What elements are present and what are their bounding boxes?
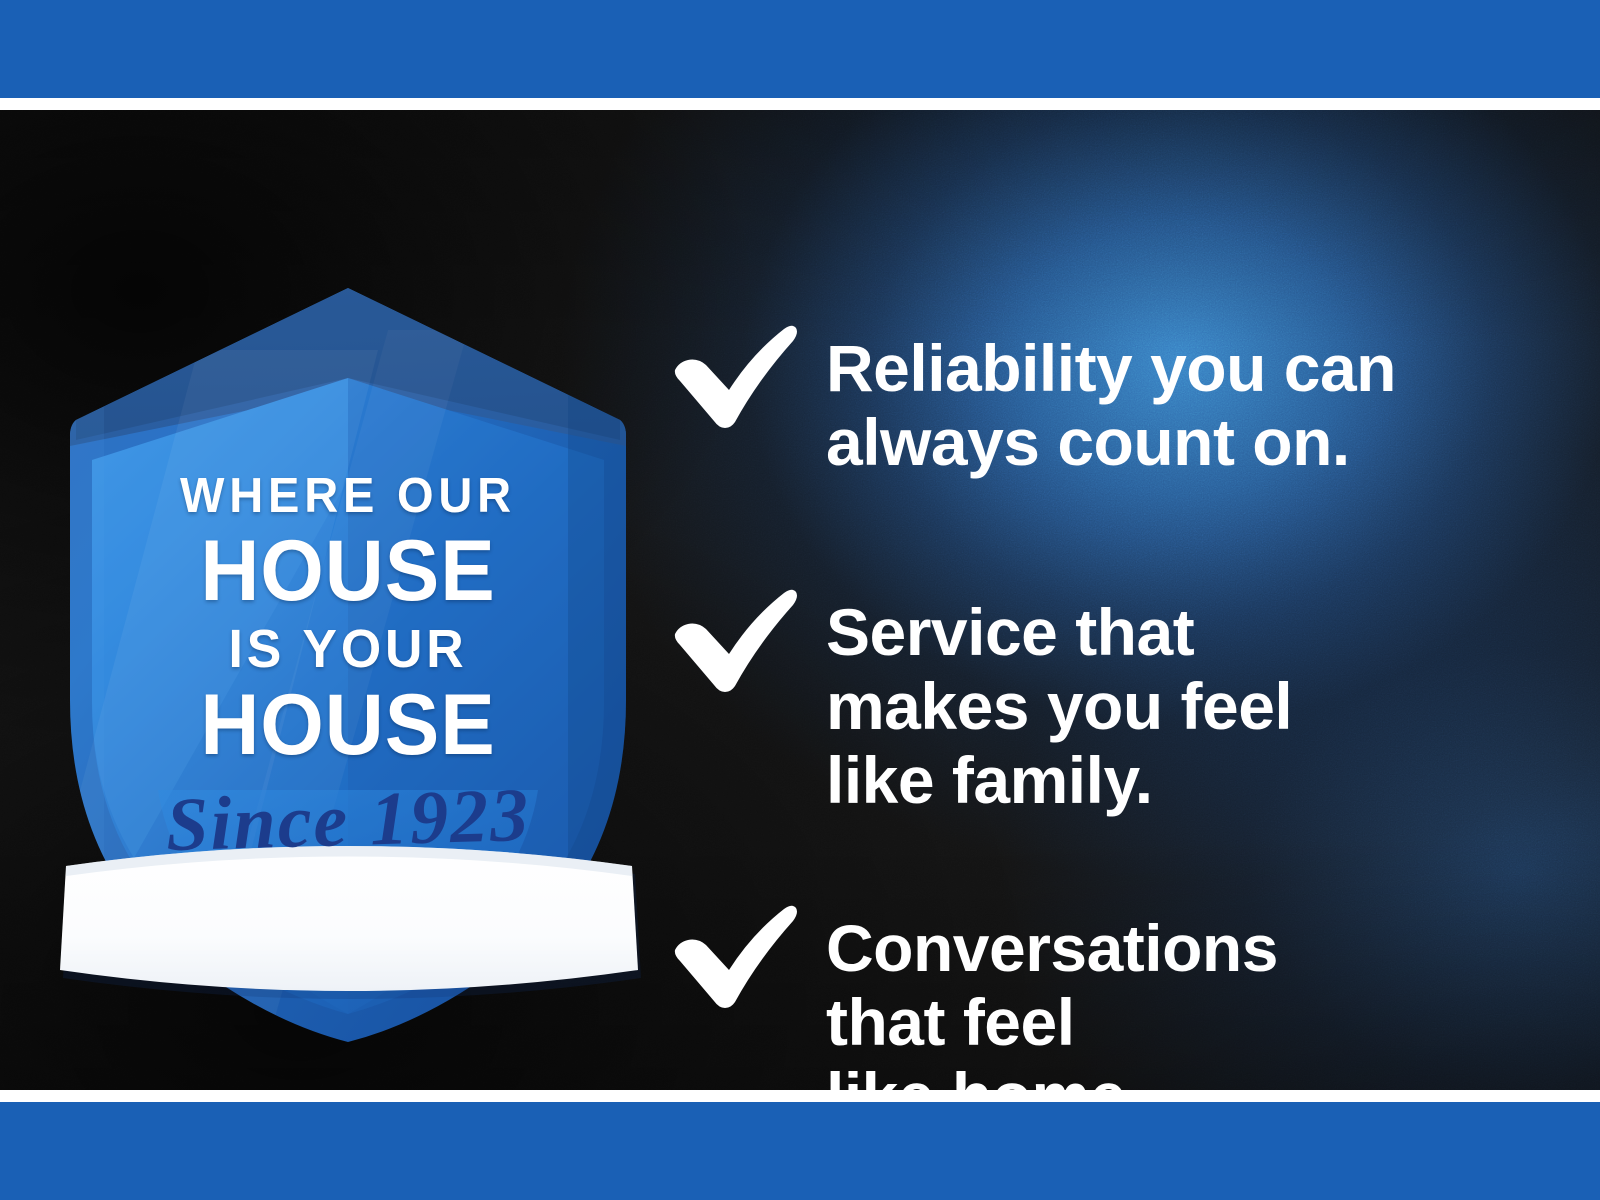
shield-emblem: WHERE OUR HOUSE IS YOUR HOUSE Since 1923 [48,270,648,1060]
emblem-tagline-line-1: WHERE OUR [60,472,636,521]
check-icon [668,582,800,694]
list-item: Service that makes you feel like family. [668,582,1292,818]
emblem-tagline-line-2: HOUSE [63,528,633,614]
list-item: Conversations that feel like home. [668,898,1278,1090]
list-item-label: Conversations that feel like home. [826,898,1278,1090]
list-item-label: Service that makes you feel like family. [826,582,1292,818]
emblem-tagline-line-3: IS YOUR [60,622,636,676]
check-icon [668,318,800,430]
check-icon [668,898,800,1010]
promo-graphic: WHERE OUR HOUSE IS YOUR HOUSE Since 1923… [0,0,1600,1200]
top-brand-band [0,0,1600,98]
ribbon-banner-icon [60,846,641,999]
bottom-white-rule [0,1090,1600,1102]
list-item: Reliability you can always count on. [668,318,1396,480]
top-white-rule [0,98,1600,110]
emblem-tagline-line-4: HOUSE [63,682,633,768]
main-stage: WHERE OUR HOUSE IS YOUR HOUSE Since 1923… [0,110,1600,1090]
list-item-label: Reliability you can always count on. [826,318,1396,480]
bottom-brand-band [0,1102,1600,1200]
